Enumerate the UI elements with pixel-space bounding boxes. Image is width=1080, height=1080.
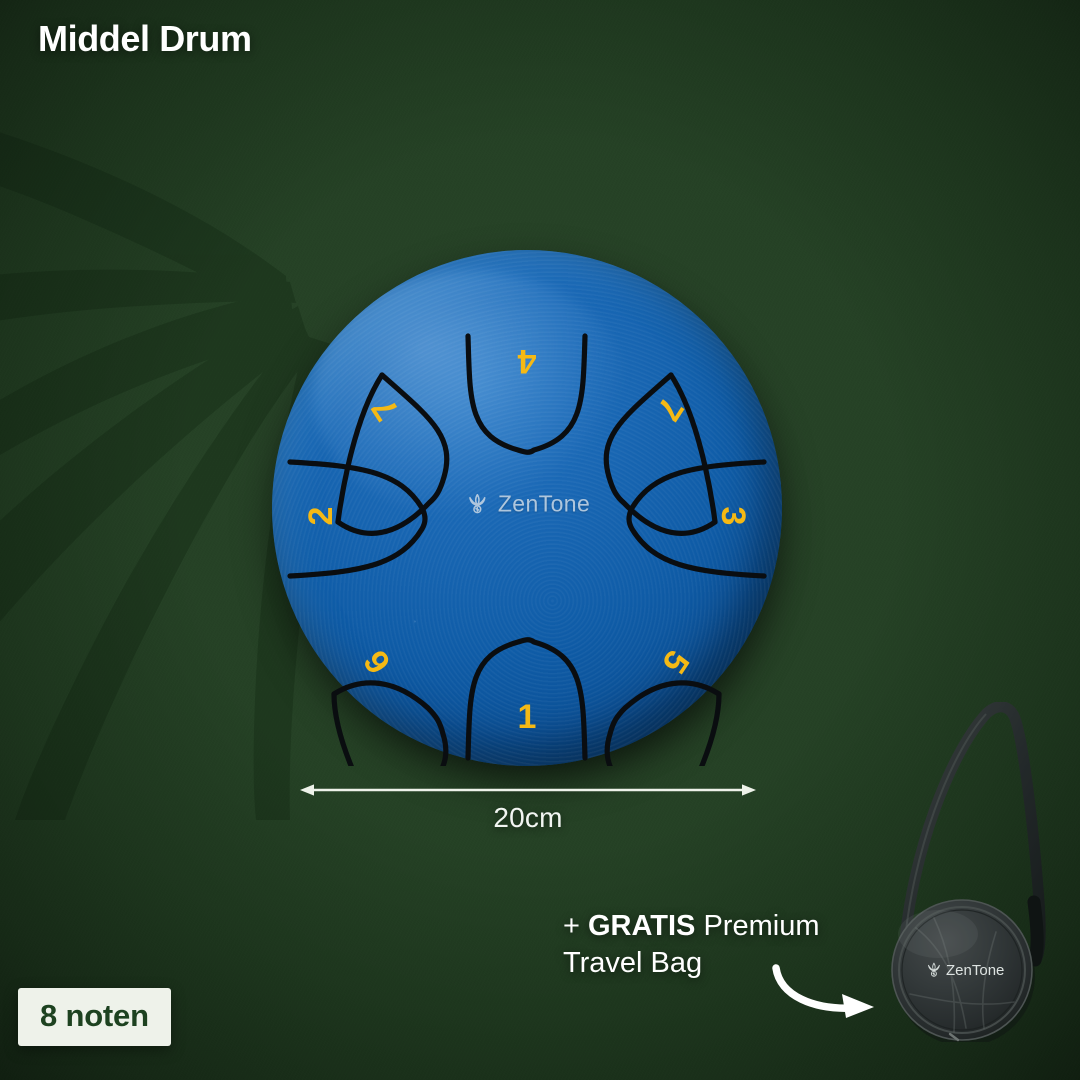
tongue-number-5: 5 xyxy=(654,643,696,680)
product-image-canvas: Middel Drum xyxy=(0,0,1080,1080)
offer-highlight: GRATIS xyxy=(588,910,695,942)
page-title: Middel Drum xyxy=(38,18,252,60)
dimension-label: 20cm xyxy=(300,802,756,834)
double-arrow-icon xyxy=(300,782,756,798)
tongue-number-2: 2 xyxy=(302,507,340,526)
drum-brand-name: ZenTone xyxy=(498,490,590,517)
steel-tongue-drum: 4 7 7 2 3 6 5 1 ZenTone xyxy=(272,250,782,766)
offer-prefix: + xyxy=(563,910,588,942)
offer-line2: Travel Bag xyxy=(563,947,702,979)
bag-brand-name: ZenTone xyxy=(946,962,1004,979)
travel-bag: ZenTone xyxy=(846,702,1080,1042)
drum-brand-logo: ZenTone xyxy=(464,490,590,517)
dimension-arrow xyxy=(300,782,756,798)
tongue-number-3: 3 xyxy=(714,507,752,526)
tongue-number-1: 1 xyxy=(518,698,537,736)
tongue-number-6: 6 xyxy=(356,643,398,680)
lotus-icon xyxy=(464,490,491,517)
note-count-label: 8 noten xyxy=(40,998,149,1033)
tongue-number-4: 4 xyxy=(517,342,536,380)
note-count-badge: 8 noten xyxy=(18,988,171,1046)
offer-rest: Premium xyxy=(695,910,819,942)
